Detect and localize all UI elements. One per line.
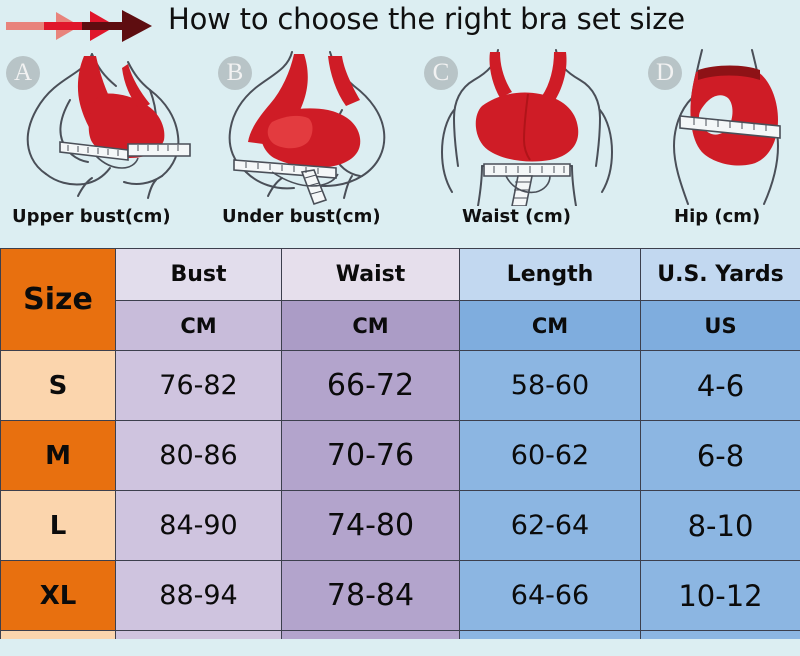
header-waist: Waist bbox=[282, 249, 460, 301]
figure-caption-waist: Waist (cm) bbox=[462, 206, 571, 227]
cell-size bbox=[1, 631, 116, 639]
figure-caption-under-bust: Under bust(cm) bbox=[222, 206, 381, 227]
cell-waist bbox=[282, 631, 460, 639]
cell-us bbox=[641, 631, 800, 639]
cell-us: 6-8 bbox=[641, 421, 800, 491]
cell-length: 62-64 bbox=[460, 491, 641, 561]
size-chart-table: Size Bust Waist Length U.S. Yards CM CM … bbox=[0, 248, 800, 639]
table-row: S 76-82 66-72 58-60 4-6 bbox=[1, 351, 800, 421]
cell-length: 64-66 bbox=[460, 561, 641, 631]
cell-bust: 84-90 bbox=[116, 491, 282, 561]
cell-waist: 74-80 bbox=[282, 491, 460, 561]
cell-length: 60-62 bbox=[460, 421, 641, 491]
cell-size: M bbox=[1, 421, 116, 491]
cell-bust bbox=[116, 631, 282, 639]
figure-caption-upper-bust: Upper bust(cm) bbox=[12, 206, 171, 227]
cell-length bbox=[460, 631, 641, 639]
table-row: L 84-90 74-80 62-64 8-10 bbox=[1, 491, 800, 561]
cell-waist: 66-72 bbox=[282, 351, 460, 421]
figure-badge-d: D bbox=[648, 56, 682, 90]
cell-us: 8-10 bbox=[641, 491, 800, 561]
cell-bust: 88-94 bbox=[116, 561, 282, 631]
figure-badge-b: B bbox=[218, 56, 252, 90]
header-bust: Bust bbox=[116, 249, 282, 301]
header-us-unit: US bbox=[641, 301, 800, 351]
table-row-clipped bbox=[1, 631, 800, 639]
triple-arrow-right-icon bbox=[4, 4, 164, 44]
cell-length: 58-60 bbox=[460, 351, 641, 421]
cell-bust: 80-86 bbox=[116, 421, 282, 491]
table-row: M 80-86 70-76 60-62 6-8 bbox=[1, 421, 800, 491]
header-bust-unit: CM bbox=[116, 301, 282, 351]
table-header-row-units: CM CM CM US bbox=[1, 301, 800, 351]
header-size: Size bbox=[1, 249, 116, 351]
figure-caption-hip: Hip (cm) bbox=[674, 206, 760, 227]
table-header-row-labels: Size Bust Waist Length U.S. Yards bbox=[1, 249, 800, 301]
figure-badge-a: A bbox=[6, 56, 40, 90]
header-waist-unit: CM bbox=[282, 301, 460, 351]
cell-bust: 76-82 bbox=[116, 351, 282, 421]
header-length-unit: CM bbox=[460, 301, 641, 351]
cell-waist: 70-76 bbox=[282, 421, 460, 491]
cell-waist: 78-84 bbox=[282, 561, 460, 631]
cell-size: XL bbox=[1, 561, 116, 631]
cell-size: L bbox=[1, 491, 116, 561]
page-title: How to choose the right bra set size bbox=[168, 2, 685, 36]
cell-size: S bbox=[1, 351, 116, 421]
cell-us: 4-6 bbox=[641, 351, 800, 421]
cell-us: 10-12 bbox=[641, 561, 800, 631]
figure-badge-c: C bbox=[424, 56, 458, 90]
illustration-band: How to choose the right bra set size bbox=[0, 0, 800, 248]
header-length: Length bbox=[460, 249, 641, 301]
table-row: XL 88-94 78-84 64-66 10-12 bbox=[1, 561, 800, 631]
size-chart-page: How to choose the right bra set size bbox=[0, 0, 800, 656]
header-us-yards: U.S. Yards bbox=[641, 249, 800, 301]
